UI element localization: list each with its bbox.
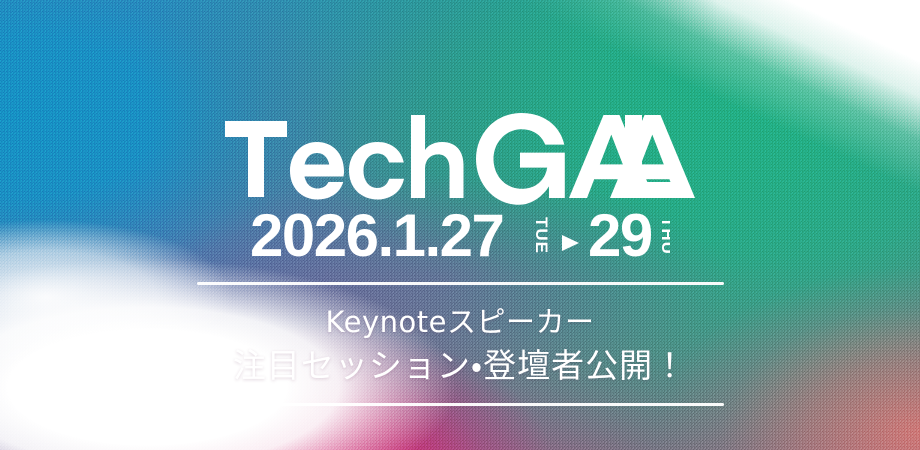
tagline-line-2: 注目セッション・登壇者公開！ xyxy=(0,344,920,388)
play-triangle-icon xyxy=(562,235,579,251)
date-start-text: 2026.1.27 xyxy=(250,203,503,265)
date-end-weekday-text: THU xyxy=(658,217,670,255)
date-end-text: 29 xyxy=(588,203,652,265)
event-date-line: 2026.1.27 TUE ▶ 29 THU 2026.1.27 TUE 29 … xyxy=(0,203,920,265)
event-key-visual-banner: TechGALA xyxy=(0,0,920,450)
banner-content: TechGALA xyxy=(0,0,920,450)
divider-top xyxy=(197,282,724,285)
techgala-wordmark-svg: TechGALA xyxy=(225,113,695,205)
date-start-weekday-text: TUE xyxy=(532,217,551,254)
techgala-wordmark: TechGALA xyxy=(0,113,920,205)
event-date-svg: 2026.1.27 TUE ▶ 29 THU 2026.1.27 TUE 29 … xyxy=(250,203,670,265)
tagline-line-1: Keynoteスピーカー xyxy=(0,300,920,344)
divider-bottom xyxy=(197,403,724,406)
tagline-block: Keynoteスピーカー 注目セッション・登壇者公開！ xyxy=(0,300,920,388)
